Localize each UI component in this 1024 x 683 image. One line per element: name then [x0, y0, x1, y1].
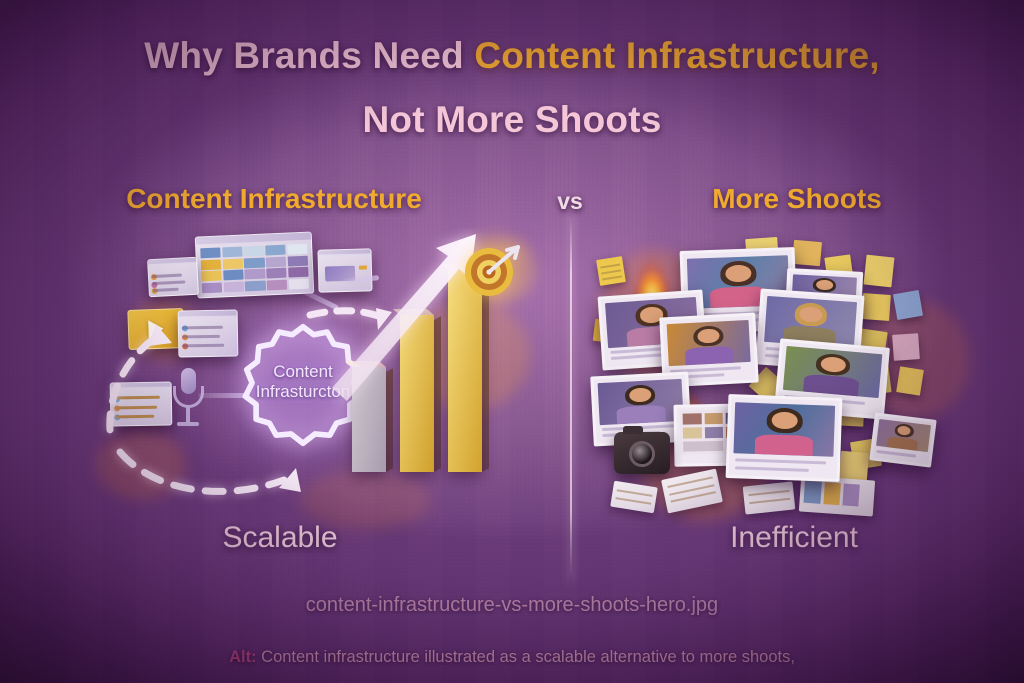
window-badge [358, 266, 366, 270]
hero-image-canvas: Content Infrasturcton [0, 0, 1024, 683]
sticky-note-icon [595, 385, 617, 407]
dashed-loop-arrow-icon [96, 280, 396, 510]
scattered-paper-icon [743, 481, 796, 514]
window-titlebar [196, 233, 311, 246]
sticky-note-icon [792, 240, 822, 266]
chart-bar [400, 315, 434, 472]
window-titlebar [318, 249, 370, 256]
bokeh-glow [455, 235, 535, 305]
bokeh-glow [640, 410, 770, 520]
photo-thumbnail [734, 402, 835, 457]
sticky-note-icon [864, 255, 895, 288]
alt-text: Content infrastructure illustrated as a … [261, 648, 795, 666]
left-verdict-label: Scalable [0, 521, 560, 555]
sticky-note-icon [858, 330, 888, 356]
photo-frame-icon [755, 288, 864, 371]
kanban-grid [200, 244, 309, 294]
photo-frame-icon [680, 247, 798, 334]
sticky-note-icon [749, 367, 786, 404]
bokeh-glow [600, 250, 710, 380]
sticky-note-icon [896, 366, 924, 395]
flame-icon [626, 246, 678, 322]
photo-frame-icon [785, 268, 864, 322]
window-titlebar [148, 258, 196, 265]
sticky-note-icon [596, 256, 626, 286]
growth-arrow-icon [330, 228, 520, 408]
gear-label: Content Infrasturcton [236, 362, 370, 402]
sticky-note-icon [858, 364, 891, 395]
page-title: Why Brands Need Content Infrastructure, … [0, 24, 1024, 151]
sticky-note-icon [835, 397, 864, 426]
task-list-card-icon [178, 309, 239, 357]
alt-text-caption: Alt: Content infrastructure illustrated … [0, 648, 1024, 667]
scattered-paper-icon [799, 475, 875, 516]
sticky-note-icon [839, 451, 869, 481]
bokeh-glow [130, 300, 200, 360]
bokeh-glow [860, 300, 970, 420]
microphone-icon [170, 368, 206, 430]
flame-icon [664, 380, 712, 444]
right-verdict-label: Inefficient [564, 521, 1024, 555]
chart-bar [448, 270, 482, 472]
photo-frame-icon [869, 412, 936, 467]
sticky-note-icon [861, 293, 891, 321]
photo-thumbnail [783, 346, 882, 398]
checklist-card-icon [147, 257, 199, 298]
browser-window-icon [317, 248, 372, 292]
scattered-paper-icon [610, 481, 658, 514]
sticky-note-icon [699, 346, 728, 375]
bar-chart-icon [352, 250, 492, 472]
camera-flash [623, 426, 643, 434]
task-list-card-icon [110, 381, 173, 426]
video-play-card-icon [127, 308, 184, 350]
play-icon [148, 320, 164, 339]
gear-label-line2: Infrasturcton [256, 382, 351, 401]
photo-thumbnail [597, 379, 684, 426]
bokeh-glow [96, 430, 186, 500]
photo-frame-icon [590, 371, 692, 446]
connector-line [198, 393, 250, 398]
kanban-dashboard-icon [195, 231, 315, 298]
moodboard-card-icon [673, 403, 758, 466]
photo-frame-icon [598, 289, 708, 370]
photo-thumbnail [605, 297, 699, 348]
window-titlebar [111, 382, 171, 388]
title-line2: Not More Shoots [363, 99, 662, 140]
photo-frame-icon [774, 338, 890, 419]
camera-icon [614, 432, 670, 474]
sticky-note-icon [850, 438, 882, 470]
window-thumbnail [325, 265, 356, 281]
photo-frame-icon [659, 313, 759, 388]
sticky-note-icon [745, 237, 779, 263]
chart-bar [352, 367, 386, 472]
photo-frame-icon [726, 394, 843, 482]
window-titlebar [179, 310, 237, 317]
sticky-note-icon [743, 439, 772, 468]
gear-icon [236, 320, 370, 454]
sticky-note-icon [892, 333, 920, 361]
sticky-note-icon [824, 254, 853, 283]
gear-label-line1: Content [273, 362, 333, 381]
bokeh-glow [410, 300, 530, 410]
target-bullseye-icon [462, 241, 520, 299]
title-accent: Content Infrastructure, [474, 35, 879, 76]
photo-thumbnail [764, 296, 857, 348]
right-column-heading: More Shoots [570, 183, 1024, 215]
scattered-paper-icon [661, 469, 723, 514]
photo-thumbnail [666, 320, 751, 367]
sticky-note-icon [854, 328, 887, 358]
connector-line [343, 275, 379, 284]
title-plain: Why Brands Need [144, 35, 474, 76]
left-column-heading: Content Infrastructure [0, 183, 548, 215]
sticky-note-icon [893, 290, 923, 320]
sticky-note-icon [827, 291, 855, 318]
palette-swatches [680, 410, 753, 455]
photo-thumbnail [687, 255, 789, 309]
sticky-note-icon [593, 319, 618, 344]
camera-lens [629, 441, 655, 467]
photo-thumbnail [791, 274, 857, 306]
alt-prefix: Alt: [229, 648, 257, 666]
photo-thumbnail [876, 419, 931, 453]
connector-line [301, 288, 339, 310]
filename-caption: content-infrastructure-vs-more-shoots-he… [0, 594, 1024, 617]
